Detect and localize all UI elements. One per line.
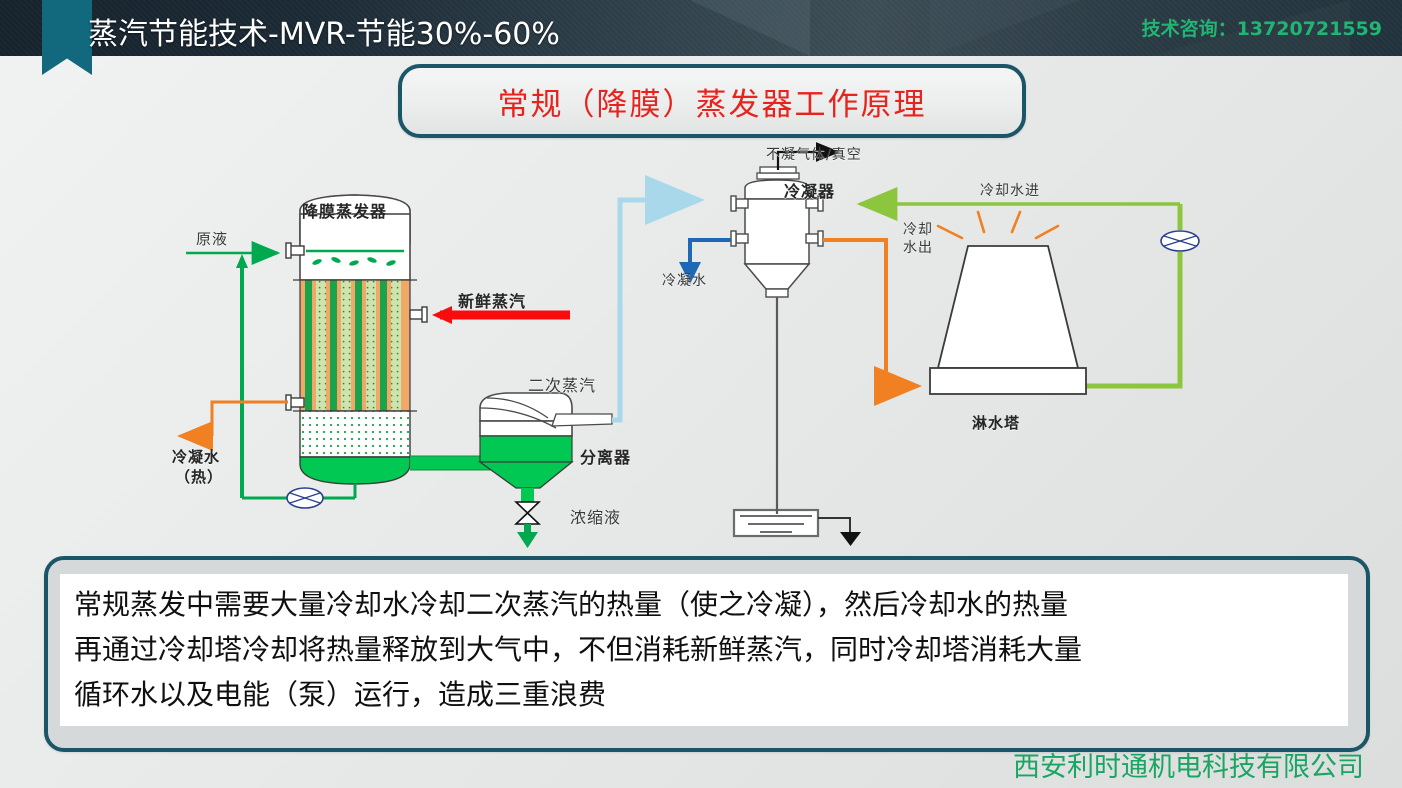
label-cooling-water-in: 冷却水进 (980, 180, 1040, 200)
label-fresh-steam: 新鲜蒸汽 (458, 288, 526, 312)
label-falling-film-evaporator: 降膜蒸发器 (302, 198, 387, 222)
diagram-svg (0, 136, 1402, 556)
evaporator-sump (300, 411, 410, 457)
label-raw-liquid: 原液 (196, 228, 228, 249)
concentrate-arrow (517, 532, 538, 548)
label-condensate: 冷凝水 (662, 270, 707, 290)
description-line: 再通过冷却塔冷却将热量释放到大气中，不但消耗新鲜蒸汽，同时冷却塔消耗大量 (74, 627, 1338, 672)
label-separator: 分离器 (580, 444, 631, 468)
hot-condensate-pipe (212, 402, 288, 436)
separator-vessel (480, 393, 612, 488)
recirculation-arrow (236, 254, 248, 268)
cooling-pump-icon (1161, 231, 1199, 251)
slide-canvas: 蒸汽节能技术-MVR-节能30%-60% 技术咨询：13720721559 常规… (0, 0, 1402, 788)
tank-drain-pipe (818, 518, 850, 532)
description-line: 循环水以及电能（泵）运行，造成三重浪费 (74, 672, 1338, 717)
evaporator-top-chamber (300, 214, 410, 280)
label-noncondensable-gas-vacuum: 不凝气体/真空 (766, 144, 862, 164)
label-condenser: 冷凝器 (784, 178, 835, 202)
page-title: 蒸汽节能技术-MVR-节能30%-60% (88, 9, 560, 53)
tower-outlet-pipe (1078, 252, 1180, 386)
evaporator-liquid-bottom (300, 457, 410, 484)
label-hot-condensate-line2: （热） (175, 466, 223, 487)
description-line: 常规蒸发中需要大量冷却水冷却二次蒸汽的热量（使之冷凝），然后冷却水的热量 (74, 582, 1338, 627)
concentrate-outlet-pipe (521, 488, 534, 502)
label-spray-tower: 淋水塔 (972, 412, 1020, 433)
label-hot-condensate-line1: 冷凝水 (172, 446, 220, 467)
label-concentrate: 浓缩液 (570, 504, 621, 528)
tank-drain-arrow (840, 532, 861, 546)
company-name: 西安利时通机电科技有限公司 (1013, 745, 1364, 784)
process-flow-diagram: 降膜蒸发器 原液 新鲜蒸汽 冷凝水 （热） 二次蒸汽 分离器 浓缩液 不凝气体/… (0, 136, 1402, 556)
slide-title-text: 常规（降膜）蒸发器工作原理 (498, 79, 927, 124)
condensate-out-pipe (690, 240, 731, 264)
secondary-vapor-pipe (612, 200, 700, 420)
header-facet-decoration (690, 0, 810, 56)
label-cooling-water-out-line2: 水出 (903, 237, 933, 257)
heat-rays-icon (938, 212, 1058, 238)
spray-cooling-tower (930, 246, 1086, 394)
cooling-water-out-pipe (823, 240, 886, 386)
contact-info: 技术咨询：13720721559 (1142, 14, 1382, 41)
label-secondary-steam: 二次蒸汽 (528, 372, 596, 396)
description-box: 常规蒸发中需要大量冷却水冷却二次蒸汽的热量（使之冷凝），然后冷却水的热量 再通过… (44, 556, 1370, 752)
description-inner: 常规蒸发中需要大量冷却水冷却二次蒸汽的热量（使之冷凝），然后冷却水的热量 再通过… (60, 574, 1348, 726)
valve-icon (516, 502, 539, 524)
fresh-steam-arrowhead (432, 306, 452, 324)
pump-icon (287, 488, 323, 508)
slide-title-box: 常规（降膜）蒸发器工作原理 (398, 64, 1026, 138)
ribbon-decoration (42, 0, 92, 75)
label-cooling-water-out-line1: 冷却 (903, 219, 933, 239)
header-facet-decoration (930, 0, 1080, 56)
